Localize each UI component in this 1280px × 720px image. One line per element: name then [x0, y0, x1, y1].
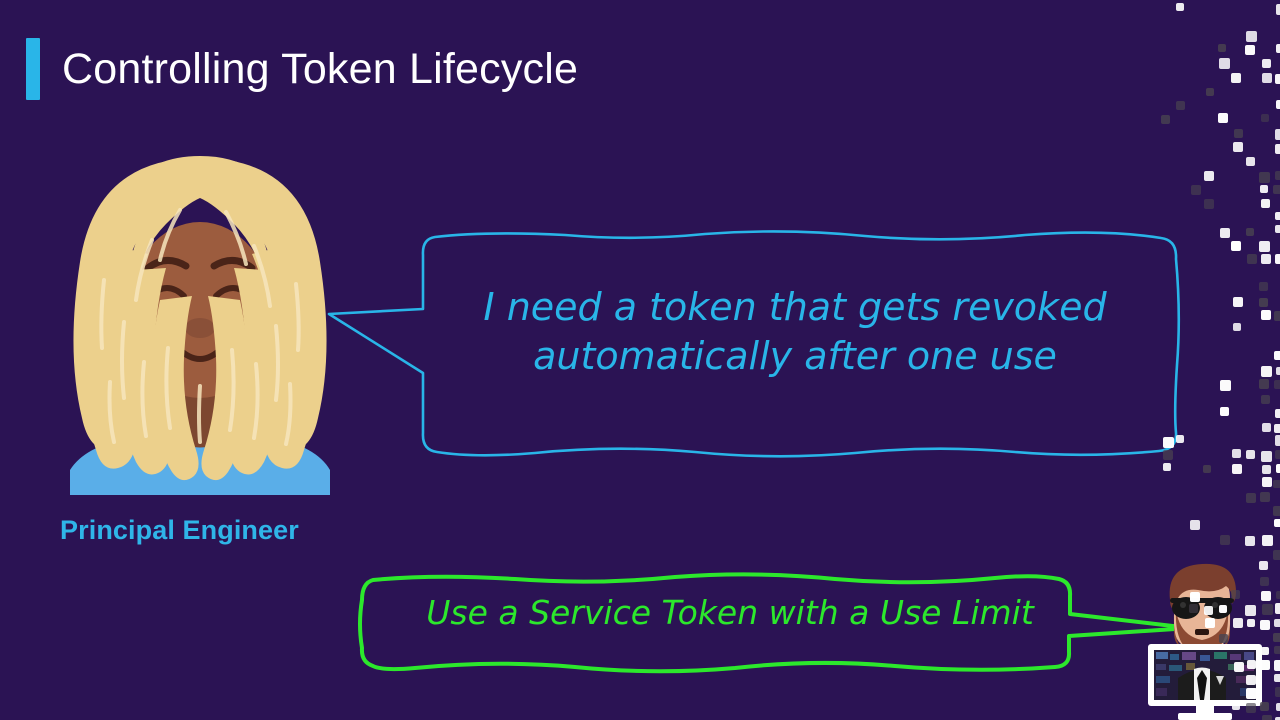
pixel-square [1276, 591, 1280, 599]
pixel-square [1274, 619, 1280, 627]
pixel-square [1274, 351, 1280, 360]
pixel-square [1274, 380, 1280, 389]
pixel-square [1233, 142, 1243, 152]
pixel-square [1273, 633, 1280, 642]
pixel-square [1231, 241, 1241, 251]
pixel-square [1261, 254, 1271, 264]
pixel-square [1274, 660, 1280, 671]
pixel-square [1274, 646, 1280, 654]
pixel-square [1262, 477, 1272, 487]
pixel-square [1275, 212, 1280, 220]
pixel-square [1259, 282, 1268, 291]
pixel-square [1262, 465, 1271, 474]
pixel-square [1275, 254, 1280, 264]
pixel-square [1262, 423, 1271, 432]
pixel-square [1262, 73, 1272, 83]
pixel-square [1204, 171, 1214, 181]
pixel-square [1246, 157, 1255, 166]
pixel-square [1275, 603, 1280, 614]
pixel-square [1262, 535, 1273, 546]
pixel-square [1245, 536, 1255, 546]
pixel-square [1246, 228, 1254, 236]
pixel-square [1218, 44, 1226, 52]
pixel-square [1232, 449, 1241, 458]
pixel-square [1275, 129, 1280, 140]
pixel-square [1176, 101, 1185, 110]
pixel-square [1220, 380, 1231, 391]
pixel-square [1273, 550, 1280, 560]
pixel-square [1275, 409, 1280, 418]
avatar [40, 150, 360, 495]
pixel-square [1220, 407, 1229, 416]
pixel-square [1275, 74, 1280, 84]
pixel-square [1276, 703, 1280, 711]
pixel-square [1261, 451, 1272, 462]
pixel-square [1261, 199, 1270, 208]
pixel-square [1276, 4, 1280, 15]
page-title: Controlling Token Lifecycle [62, 48, 578, 91]
pixel-square [1262, 59, 1271, 68]
question-bubble: I need a token that gets revoked automat… [325, 225, 1185, 465]
pixel-square [1276, 100, 1280, 109]
pixel-square [1259, 379, 1269, 389]
pixel-square [1275, 687, 1280, 697]
pixel-square [1260, 185, 1268, 193]
pixel-square [1246, 450, 1255, 459]
pixel-square [1275, 225, 1280, 233]
pixel-square [1231, 73, 1241, 83]
pixel-square [1259, 241, 1270, 252]
presenter-avatar [1140, 552, 1270, 720]
pixel-square [1261, 114, 1269, 122]
pixel-square [1234, 129, 1243, 138]
pixel-square [1218, 113, 1228, 123]
pixel-square [1274, 519, 1280, 527]
pixel-square [1190, 520, 1200, 530]
pixel-square [1219, 58, 1230, 69]
accent-bar [26, 38, 40, 100]
pixel-square [1261, 395, 1270, 404]
pixel-square [1233, 297, 1243, 307]
pixel-square [1274, 311, 1280, 321]
pixel-square [1275, 450, 1280, 459]
pixel-square [1245, 45, 1255, 55]
slide-header: Controlling Token Lifecycle [26, 38, 578, 100]
pixel-square [1220, 228, 1230, 238]
pixel-square [1233, 323, 1241, 331]
role-label: Principal Engineer [60, 515, 299, 546]
pixel-square [1260, 492, 1270, 502]
pixel-square [1203, 465, 1211, 473]
pixel-square [1259, 172, 1270, 183]
pixel-square [1276, 44, 1280, 53]
pixel-square [1246, 31, 1257, 42]
pixel-square [1261, 310, 1271, 320]
pixel-square [1261, 366, 1272, 377]
pixel-square [1275, 171, 1280, 180]
pixel-square [1246, 493, 1256, 503]
answer-bubble: Use a Service Token with a Use Limit [355, 570, 1200, 675]
pixel-square [1161, 115, 1170, 124]
slide-canvas: Controlling Token Lifecycle [0, 0, 1280, 720]
pixel-square [1206, 88, 1214, 96]
pixel-square [1204, 199, 1214, 209]
pixel-square [1276, 367, 1280, 375]
pixel-square [1273, 506, 1280, 516]
pixel-square [1232, 464, 1242, 474]
pixel-square [1191, 185, 1201, 195]
pixel-square [1247, 254, 1257, 264]
pixel-square [1220, 535, 1230, 545]
pixel-square [1273, 480, 1280, 488]
pixel-square [1274, 674, 1280, 682]
pixel-square [1275, 435, 1280, 446]
pixel-square [1273, 185, 1280, 194]
pixel-square [1176, 3, 1184, 11]
pixel-square [1259, 298, 1268, 307]
pixel-square [1275, 144, 1280, 154]
pixel-square [1274, 424, 1280, 433]
pixel-square [1276, 464, 1280, 473]
